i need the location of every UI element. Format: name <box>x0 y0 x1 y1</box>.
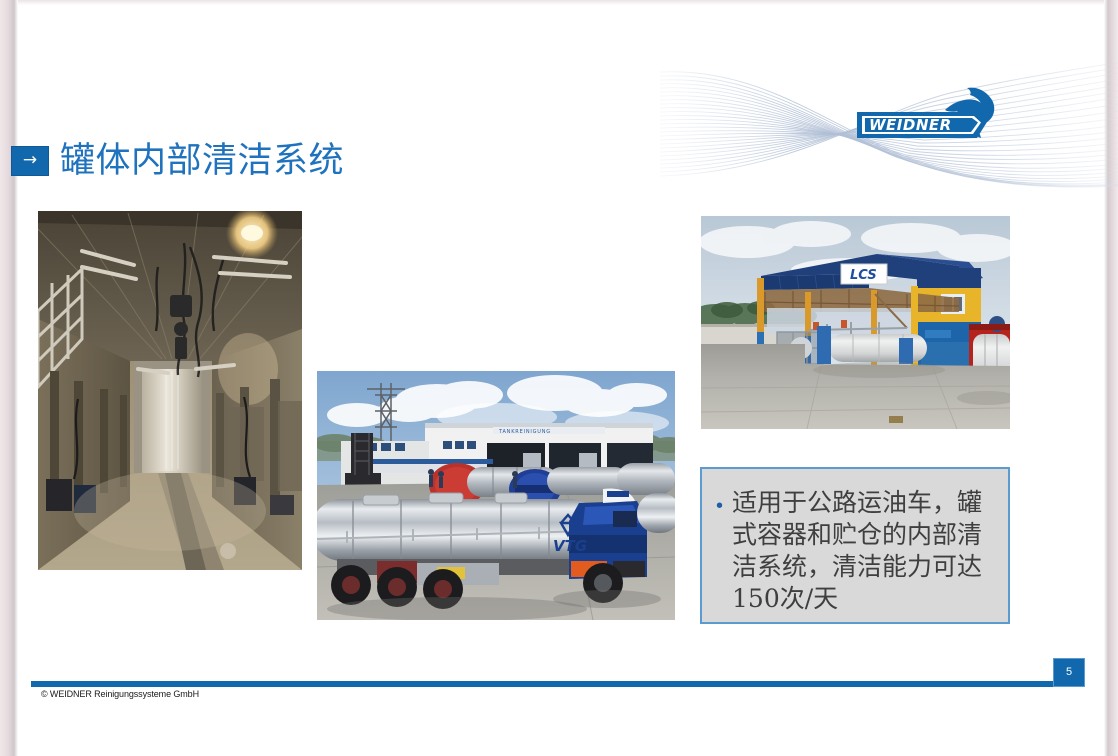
page-title: 罐体内部清洁系统 <box>60 142 344 180</box>
svg-text:WEIDNER: WEIDNER <box>869 116 952 134</box>
weidner-logo: WEIDNER <box>855 84 1007 146</box>
title-arrow-icon: → <box>11 146 49 176</box>
callout-box: • 适用于公路运油车，罐式容器和贮仓的内部清洁系统，清洁能力可达150次/天 <box>700 467 1010 624</box>
photo-interior-hall <box>38 211 302 570</box>
footer-copyright: © WEIDNER Reinigungssysteme GmbH <box>41 689 199 699</box>
callout-text: 适用于公路运油车，罐式容器和贮仓的内部清洁系统，清洁能力可达150次/天 <box>732 487 998 615</box>
bullet-glyph: • <box>716 496 723 615</box>
photo-canopy-station: LCS <box>701 216 1010 429</box>
slide-title-row: → 罐体内部清洁系统 <box>11 142 344 180</box>
footer-rule <box>31 681 1085 687</box>
photo-tanker-depot: TANKREINIGUNG <box>317 371 675 620</box>
svg-text:LCS: LCS <box>850 268 877 283</box>
weidner-wordmark: WEIDNER <box>857 112 987 138</box>
slide-canvas: WEIDNER → 罐体内部清洁系统 <box>0 0 1118 756</box>
svg-text:VTG: VTG <box>553 537 587 555</box>
page-edge-right <box>1104 0 1118 756</box>
page-number-badge: 5 <box>1053 658 1085 687</box>
depot-bay-sign: TANKREINIGUNG <box>498 429 551 435</box>
canopy-lcs-sign: LCS <box>841 264 887 284</box>
page-edge-left <box>0 0 18 756</box>
page-edge-top <box>18 0 1104 5</box>
